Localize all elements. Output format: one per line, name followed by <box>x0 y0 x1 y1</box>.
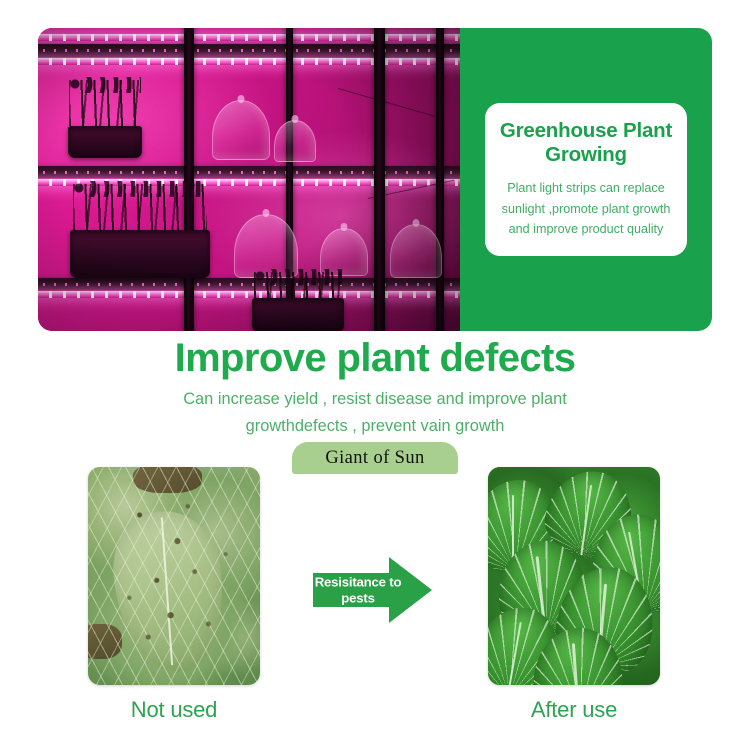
feature-card-title: Greenhouse Plant Growing <box>495 119 677 167</box>
subheadline-line-1: Can increase yield , resist disease and … <box>0 386 750 413</box>
subheadline-line-2: growthdefects , prevent vain growth <box>0 413 750 440</box>
greenhouse-photo <box>38 28 460 331</box>
caption-not-used: Not used <box>88 697 260 723</box>
photo-vignette <box>38 28 460 331</box>
feature-panel: Greenhouse Plant Growing Plant light str… <box>460 28 712 331</box>
feature-card-description: Plant light strips can replace sunlight … <box>495 178 677 239</box>
arrow-right-icon <box>313 557 432 623</box>
brand-badge: Giant of Sun <box>292 442 458 474</box>
hero-banner: Greenhouse Plant Growing Plant light str… <box>38 28 712 331</box>
photo-after-use <box>488 467 660 685</box>
resistance-arrow: Resisitance to pests <box>313 557 432 623</box>
photo-not-used <box>88 467 260 685</box>
feature-card: Greenhouse Plant Growing Plant light str… <box>485 103 687 255</box>
page-subheadline: Can increase yield , resist disease and … <box>0 386 750 439</box>
caption-after-use: After use <box>488 697 660 723</box>
pest-damage-holes <box>88 467 260 685</box>
page-headline: Improve plant defects <box>0 338 750 378</box>
